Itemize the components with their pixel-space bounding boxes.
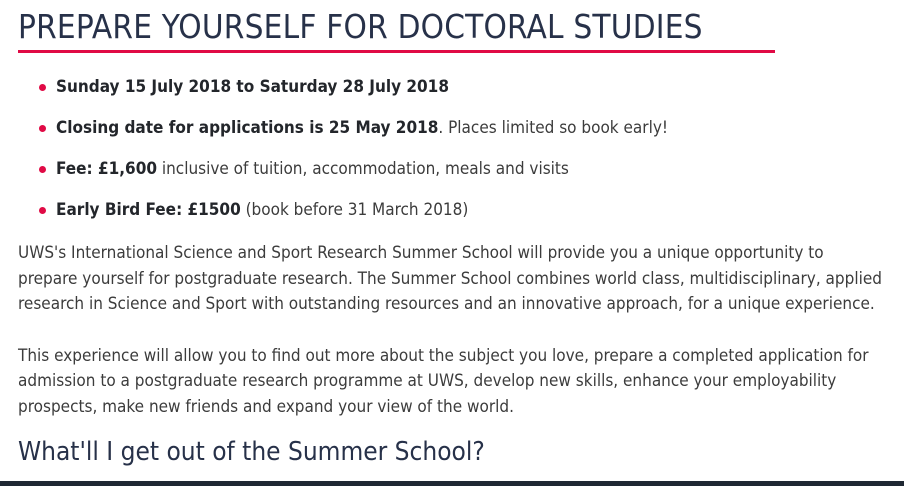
list-item-lead: Closing date for applications is 25 May … xyxy=(56,118,438,138)
list-item: Early Bird Fee: £1500 (book before 31 Ma… xyxy=(18,200,886,220)
article-content: PREPARE YOURSELF FOR DOCTORAL STUDIES Su… xyxy=(0,0,904,486)
list-item-lead: Early Bird Fee: £1500 xyxy=(56,200,241,220)
intro-paragraph: UWS's International Science and Sport Re… xyxy=(18,241,886,318)
bullet-dot-icon xyxy=(39,166,46,173)
list-item-rest: inclusive of tuition, accommodation, mea… xyxy=(157,159,569,179)
list-item-rest: (book before 31 March 2018) xyxy=(241,200,469,220)
bullet-dot-icon xyxy=(39,207,46,214)
list-item: Closing date for applications is 25 May … xyxy=(18,118,886,138)
bullet-dot-icon xyxy=(39,84,46,91)
benefits-paragraph: This experience will allow you to find o… xyxy=(18,344,886,421)
page-title: PREPARE YOURSELF FOR DOCTORAL STUDIES xyxy=(18,0,886,46)
bullet-dot-icon xyxy=(39,125,46,132)
section-divider-rule xyxy=(0,481,904,486)
list-item: Fee: £1,600 inclusive of tuition, accomm… xyxy=(18,159,886,179)
list-item-lead: Fee: £1,600 xyxy=(56,159,157,179)
section-title: What'll I get out of the Summer School? xyxy=(18,436,886,468)
key-facts-list: Sunday 15 July 2018 to Saturday 28 July … xyxy=(18,53,886,220)
list-item: Sunday 15 July 2018 to Saturday 28 July … xyxy=(18,77,886,97)
list-item-lead: Sunday 15 July 2018 to Saturday 28 July … xyxy=(56,77,449,97)
list-item-rest: . Places limited so book early! xyxy=(438,118,668,138)
